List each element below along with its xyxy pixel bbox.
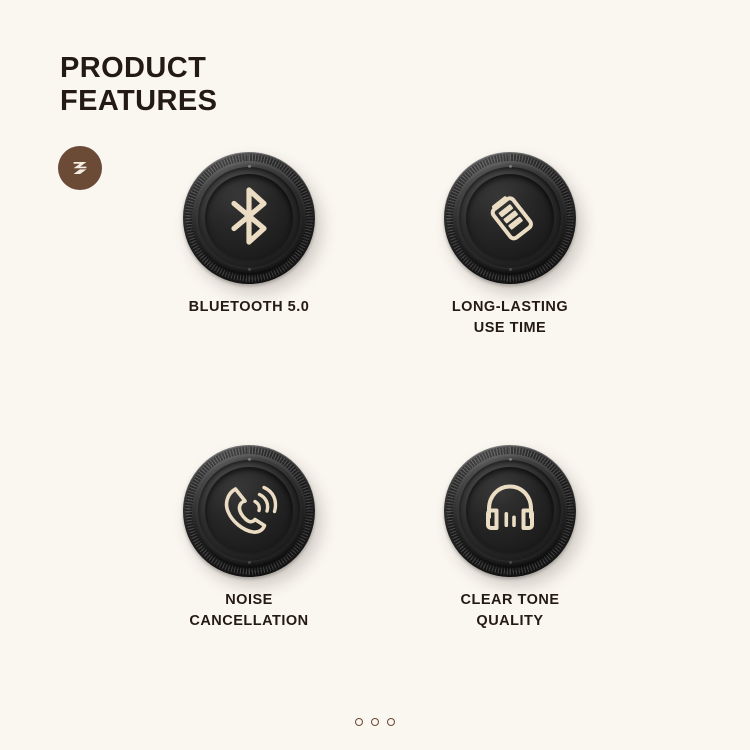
knob-face <box>205 174 293 262</box>
header: PRODUCT FEATURES <box>60 52 480 118</box>
knob-marker-top <box>509 458 512 461</box>
knob-dial[interactable] <box>183 152 315 284</box>
bluetooth-icon <box>226 186 272 251</box>
page-title: PRODUCT FEATURES <box>60 52 480 118</box>
pagination-dot[interactable] <box>387 718 395 726</box>
feature-card-bluetooth[interactable]: BLUETOOTH 5.0 <box>119 147 379 318</box>
feature-knob[interactable] <box>380 440 640 582</box>
knob-marker-bottom <box>248 561 251 564</box>
pagination-dot[interactable] <box>371 718 379 726</box>
knob-marker-top <box>248 458 251 461</box>
feature-knob[interactable] <box>380 147 640 289</box>
knob-face <box>466 174 554 262</box>
feature-card-noise-cancellation[interactable]: NOISE CANCELLATION <box>119 440 379 632</box>
knob-marker-bottom <box>509 561 512 564</box>
knob-dial[interactable] <box>183 445 315 577</box>
feature-label: BLUETOOTH 5.0 <box>119 297 379 318</box>
feature-label: CLEAR TONE QUALITY <box>380 590 640 632</box>
pagination-dots[interactable] <box>0 718 750 726</box>
product-features-slide: PRODUCT FEATURES <box>0 0 750 750</box>
brand-logo <box>58 146 102 190</box>
feature-label: NOISE CANCELLATION <box>119 590 379 632</box>
feature-label: LONG-LASTING USE TIME <box>380 297 640 339</box>
knob-marker-bottom <box>509 268 512 271</box>
knob-face <box>466 467 554 555</box>
battery-icon <box>480 186 540 251</box>
pagination-dot[interactable] <box>355 718 363 726</box>
knob-marker-bottom <box>248 268 251 271</box>
feature-knob[interactable] <box>119 147 379 289</box>
knob-face <box>205 467 293 555</box>
brand-monogram-icon <box>67 155 93 181</box>
phone-call-waves-icon <box>218 480 280 543</box>
feature-card-clear-tone-quality[interactable]: CLEAR TONE QUALITY <box>380 440 640 632</box>
headphones-icon <box>479 481 541 542</box>
knob-dial[interactable] <box>444 445 576 577</box>
knob-dial[interactable] <box>444 152 576 284</box>
knob-marker-top <box>509 165 512 168</box>
knob-marker-top <box>248 165 251 168</box>
feature-knob[interactable] <box>119 440 379 582</box>
feature-card-battery[interactable]: LONG-LASTING USE TIME <box>380 147 640 339</box>
